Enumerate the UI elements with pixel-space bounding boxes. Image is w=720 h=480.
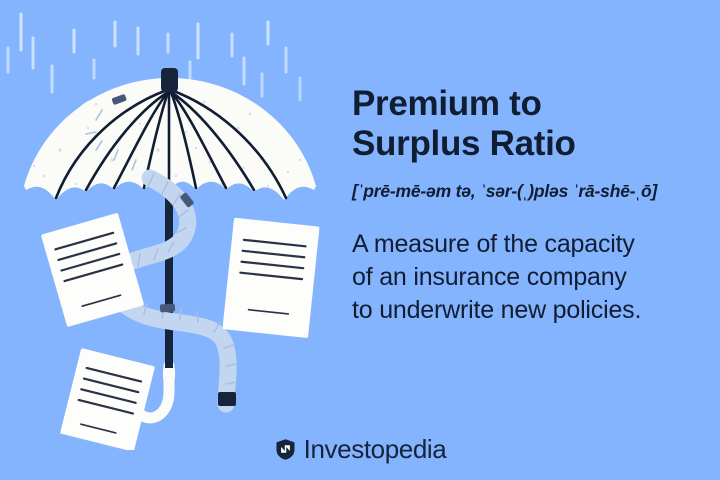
umbrella-ferrule bbox=[161, 68, 178, 92]
brand-name: Investopedia bbox=[304, 436, 447, 462]
term-definition: A measure of the capacity of an insuranc… bbox=[352, 228, 696, 328]
document-bottom-left bbox=[60, 348, 155, 450]
term-text-column: Premium to Surplus Ratio [ˈprē-mē-əm tə,… bbox=[352, 84, 696, 327]
ribbon-tip bbox=[218, 392, 236, 406]
term-definition-line-2: of an insurance company bbox=[352, 263, 627, 291]
document-right bbox=[222, 218, 319, 338]
ribbon-accent-lower bbox=[160, 303, 176, 312]
term-definition-card: Premium to Surplus Ratio [ˈprē-mē-əm tə,… bbox=[0, 0, 720, 480]
term-title-line-2: Surplus Ratio bbox=[352, 124, 576, 163]
term-pronunciation: [ˈprē-mē-əm tə, ˈsər-(ˌ)pləs ˈrā-shē-ˌō] bbox=[352, 181, 696, 202]
umbrella-illustration bbox=[0, 0, 340, 450]
term-definition-line-1: A measure of the capacity bbox=[352, 230, 635, 258]
investopedia-logo-icon bbox=[274, 438, 297, 461]
term-definition-line-3: to underwrite new policies. bbox=[352, 296, 641, 324]
brand-logo: Investopedia bbox=[0, 436, 720, 462]
umbrella-pole-cap bbox=[163, 368, 175, 380]
page-title: Premium to Surplus Ratio bbox=[352, 84, 696, 165]
term-title-line-1: Premium to bbox=[352, 84, 542, 123]
